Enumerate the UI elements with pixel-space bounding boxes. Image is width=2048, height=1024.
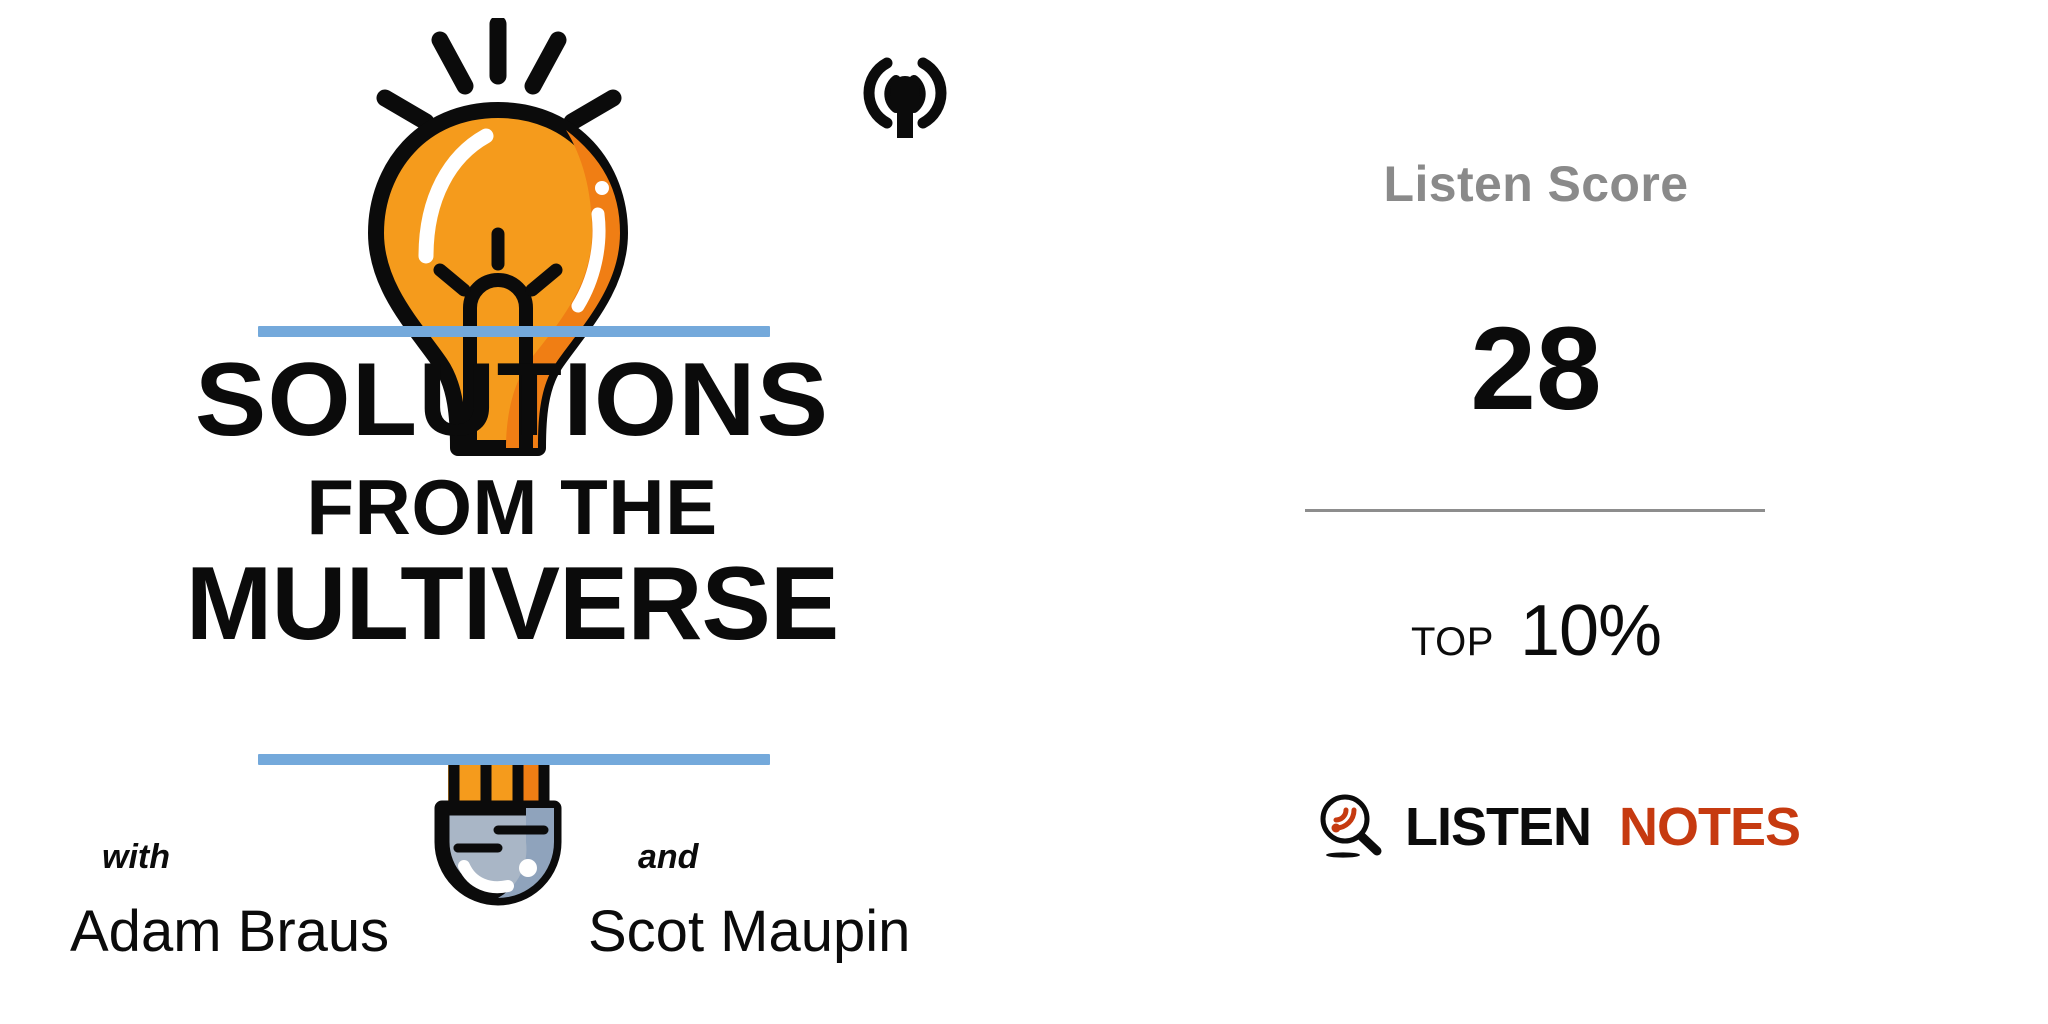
- top-percentile-value: 10%: [1520, 590, 1661, 672]
- credit-with-label: with: [102, 838, 170, 877]
- title-line-3: MULTIVERSE: [0, 552, 1024, 656]
- credits-hosts: Adam Braus Scot Maupin: [0, 898, 1024, 958]
- broadcast-icon: [845, 35, 965, 145]
- divider-rule-bottom: [258, 754, 770, 765]
- brand-wordmark: LISTEN NOTES: [1405, 800, 1800, 854]
- magnifier-rss-icon: [1319, 793, 1383, 861]
- brand-listen-text: LISTEN: [1405, 797, 1591, 857]
- credit-and-label: and: [638, 838, 698, 877]
- host-name-2: Scot Maupin: [588, 898, 910, 965]
- listen-score-value: 28: [1024, 310, 2048, 428]
- podcast-artwork: SOLUTIONS FROM THE MULTIVERSE with and A…: [0, 0, 1024, 1024]
- listen-score-panel: Listen Score 28 TOP 10%: [1024, 0, 2048, 1024]
- podcast-title: SOLUTIONS FROM THE MULTIVERSE: [0, 348, 1024, 656]
- host-name-1: Adam Braus: [70, 898, 389, 965]
- brand-notes-text: NOTES: [1619, 797, 1800, 857]
- credits-connectors: with and: [0, 838, 1024, 878]
- score-divider: [1305, 509, 1765, 512]
- top-percentile-row: TOP 10%: [1024, 590, 2048, 672]
- listen-score-card: SOLUTIONS FROM THE MULTIVERSE with and A…: [0, 0, 2048, 1024]
- top-label: TOP: [1411, 620, 1494, 665]
- title-line-1: SOLUTIONS: [0, 348, 1039, 452]
- divider-rule-top: [258, 326, 770, 337]
- title-line-2: FROM THE: [0, 468, 1024, 546]
- listen-score-label: Listen Score: [1024, 155, 2048, 213]
- listen-notes-logo[interactable]: LISTEN NOTES: [1319, 793, 1800, 861]
